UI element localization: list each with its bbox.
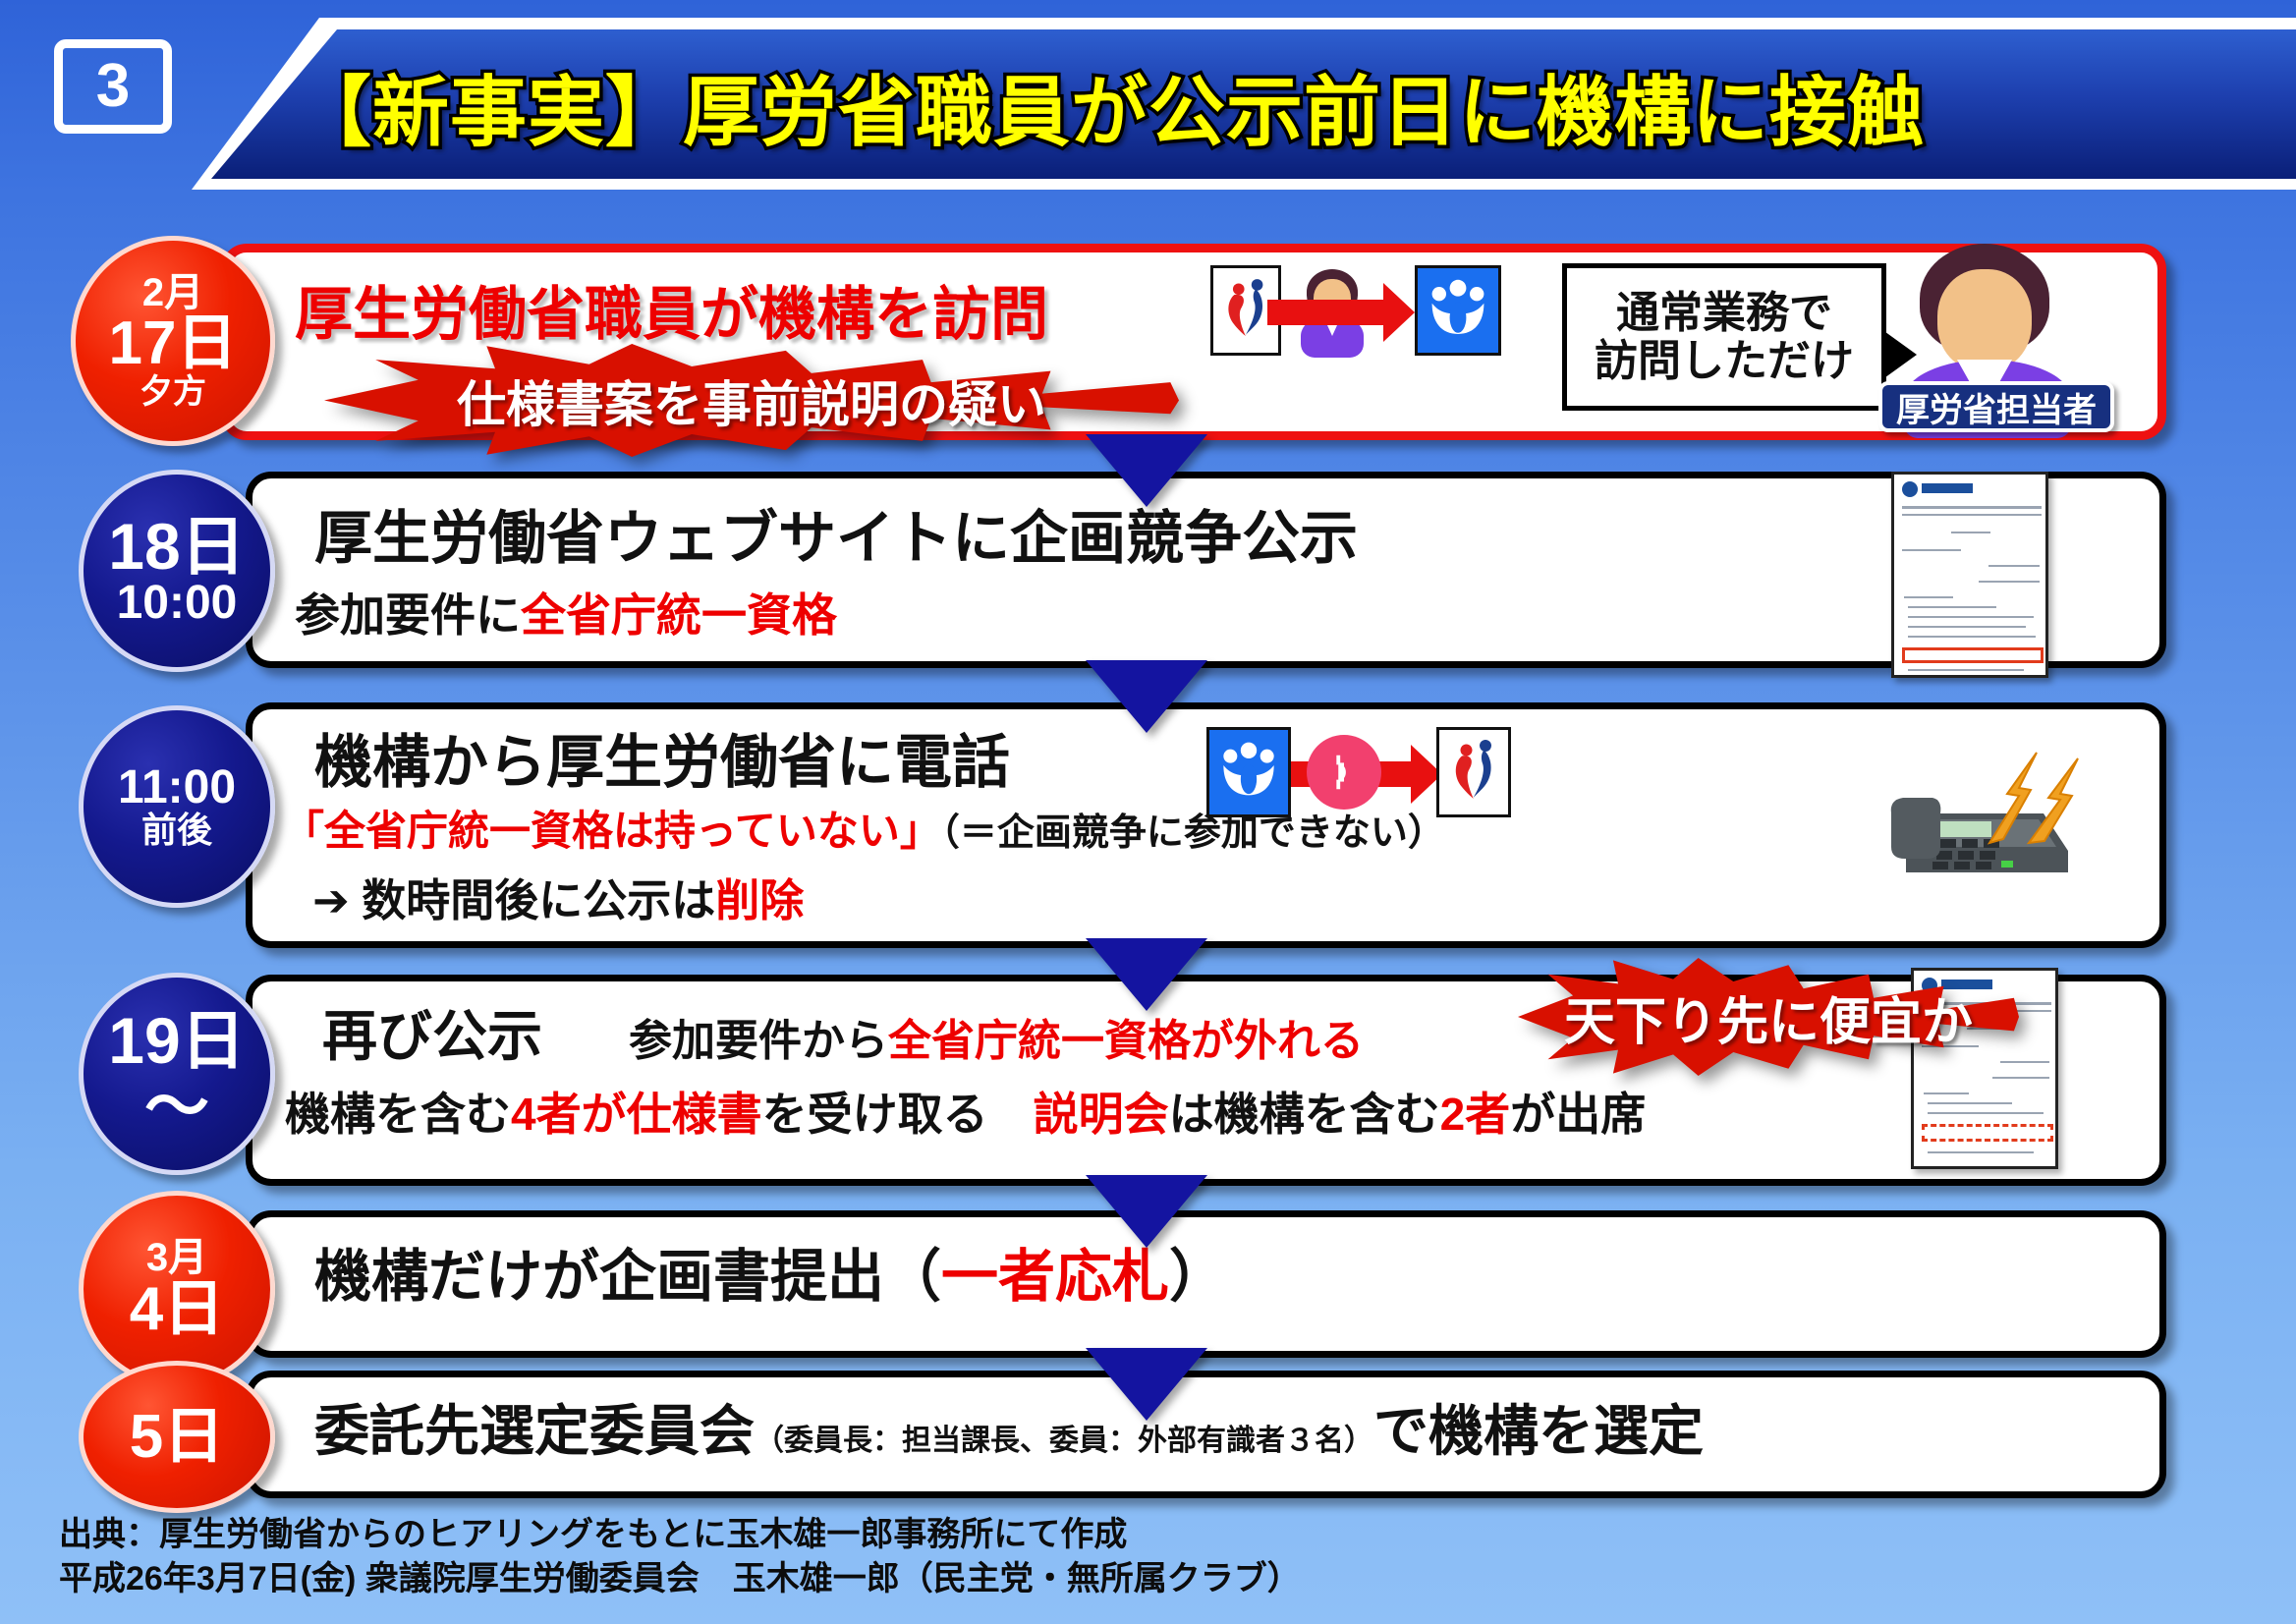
- row-5-suffix: ）: [1169, 1245, 1226, 1309]
- row-4-sub-plain: 参加要件から: [629, 1017, 888, 1065]
- date-badge-row-3: 11:00 前後: [79, 705, 275, 908]
- row-4-part-2: を受け取る: [762, 1089, 1034, 1140]
- date-badge-line-2: 4日: [130, 1278, 224, 1340]
- row-4-headline-line: 再び公示 参加要件から全省庁統一資格が外れる: [322, 992, 1364, 1072]
- row-1-headline: 厚生労働省職員が機構を訪問: [295, 267, 1048, 351]
- date-badge-line-2: 前後: [141, 812, 212, 849]
- flow-arrow-4: [1086, 1175, 1207, 1248]
- date-badge-line-1: 2月: [142, 273, 203, 313]
- flow-arrow-3: [1086, 938, 1207, 1011]
- row-6-main: 委託先選定委員会: [314, 1400, 755, 1462]
- red-arrow-icon: [1267, 300, 1385, 325]
- slide-header: 3 【新事実】厚労省職員が公示前日に機構に接触: [0, 0, 2296, 196]
- date-badge-row-4: 19日～: [79, 973, 275, 1175]
- date-badge-line-1: 19日～: [84, 1008, 270, 1141]
- date-badge-row-1: 2月 17日 夕方: [71, 236, 275, 446]
- slide-number-text: 3: [96, 56, 130, 117]
- footer-line-1: 出典：厚生労働省からのヒアリングをもとに玉木雄一郎事務所にて作成: [59, 1513, 1926, 1557]
- row-4-part-4: は機構を含む: [1169, 1089, 1440, 1140]
- row-2-sub-emphasis: 全省庁統一資格: [521, 589, 837, 641]
- date-badge-line-3: 夕方: [140, 375, 206, 410]
- footer-line-2: 平成26年3月7日(金) 衆議院厚生労働委員会 玉木雄一郎（民主党・無所属クラブ…: [59, 1557, 1926, 1601]
- date-badge-line-2: 10:00: [117, 580, 238, 628]
- speech-line-2: 訪問しただけ: [1595, 337, 1854, 385]
- date-badge-line-1: 11:00: [118, 764, 236, 812]
- row-2-sub-plain: 参加要件に: [295, 589, 521, 641]
- date-badge-row-6: 5日: [79, 1361, 275, 1513]
- row-6-tail: で機構を選定: [1373, 1400, 1704, 1462]
- row-4-detail-line: 機構を含む4者が仕様書を受け取る 説明会は機構を含む2者が出席: [285, 1079, 1646, 1144]
- row-4-part-3: 説明会: [1034, 1089, 1169, 1140]
- callout-burst-row-1: 仕様書案を事前説明の疑い: [324, 344, 1179, 457]
- row-3-headline: 機構から厚生労働省に電話: [314, 715, 1010, 799]
- page-title: 【新事実】厚労省職員が公示前日に機構に接触: [295, 37, 2279, 175]
- date-badge-row-5: 3月 4日: [79, 1191, 275, 1387]
- phone-circle-icon: [1307, 735, 1381, 810]
- row-5-emphasis: 一者応札: [941, 1245, 1169, 1309]
- row-5-prefix: 機構だけが企画書提出（: [314, 1245, 941, 1309]
- row-4-sub-emphasis: 全省庁統一資格が外れる: [888, 1017, 1364, 1065]
- speech-line-1: 通常業務で: [1595, 289, 1854, 337]
- speech-bubble-icon: 通常業務で 訪問しただけ: [1562, 263, 1886, 411]
- date-badge-line-1: 5日: [130, 1406, 224, 1468]
- organization-logo-icon: [1415, 265, 1501, 356]
- flow-arrow-2: [1086, 660, 1207, 733]
- date-badge-row-2: 18日 10:00: [79, 470, 275, 672]
- slide-number-badge: 3: [54, 39, 172, 134]
- row-4-part-0: 機構を含む: [285, 1089, 511, 1140]
- row-6-headline-line: 委託先選定委員会（委員長：担当課長、委員：外部有識者３名）で機構を選定: [314, 1387, 1704, 1467]
- row-6-note: （委員長：担当課長、委員：外部有識者３名）: [755, 1425, 1373, 1457]
- row-4-part-5: 2者: [1440, 1089, 1511, 1140]
- flow-arrow-5: [1086, 1348, 1207, 1421]
- row-3-quote-note: （＝企画競争に参加できない）: [941, 812, 1445, 854]
- row-4-headline: 再び公示: [322, 1005, 542, 1067]
- callout-burst-row-4: 天下り先に便宜か: [1518, 958, 2019, 1076]
- slide-canvas: 3 【新事実】厚労省職員が公示前日に機構に接触 2月 17日 夕方 厚生労働省職…: [0, 0, 2296, 1624]
- row-4-part-1: 4者が仕様書: [511, 1089, 762, 1140]
- date-badge-line-1: 3月: [146, 1238, 207, 1278]
- organization-logo-icon: [1206, 727, 1291, 817]
- source-footer: 出典：厚生労働省からのヒアリングをもとに玉木雄一郎事務所にて作成 平成26年3月…: [59, 1513, 1926, 1601]
- row-3-quote: 「全省庁統一資格は持っていない」: [283, 808, 941, 854]
- row-2-subline: 参加要件に全省庁統一資格: [295, 580, 837, 644]
- avatar-name-badge: 厚労省担当者: [1878, 381, 2114, 432]
- date-badge-line-2: 17日: [109, 312, 238, 374]
- document-thumbnail-icon: [1891, 472, 2048, 678]
- burst-label-row-1: 仕様書案を事前説明の疑い: [457, 365, 1046, 436]
- row-3-result-line: ➔ 数時間後に公示は削除: [312, 865, 804, 928]
- date-badge-line-1: 18日: [108, 514, 245, 580]
- burst-label-row-4: 天下り先に便宜か: [1564, 980, 1973, 1054]
- mhlw-logo-icon: [1436, 727, 1511, 817]
- row-3-result-prefix: ➔ 数時間後に公示は: [312, 875, 715, 925]
- row-3-result-emphasis: 削除: [715, 875, 804, 925]
- row-4-part-6: が出席: [1510, 1089, 1646, 1140]
- desk-phone-icon: [1872, 745, 2102, 902]
